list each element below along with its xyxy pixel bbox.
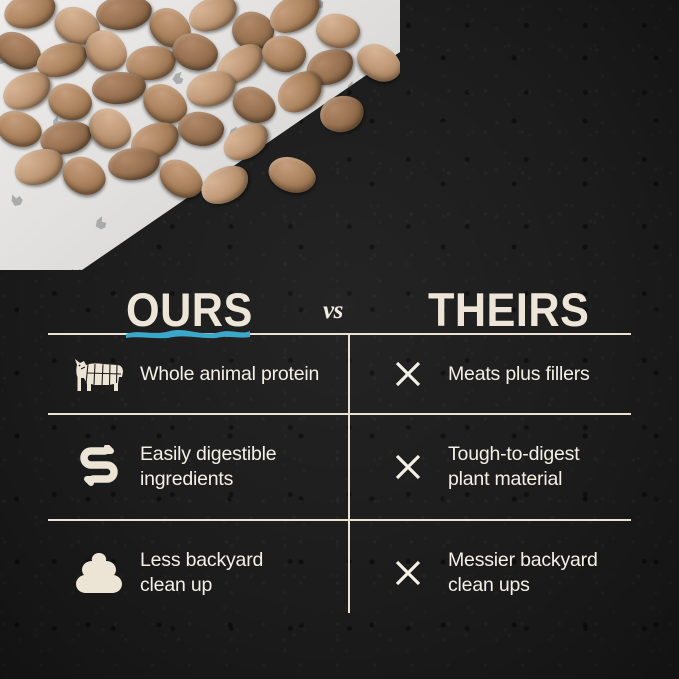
theirs-row-text: Meats plus fillers <box>448 362 590 387</box>
theirs-header-cell: THEIRS <box>348 288 631 333</box>
x-mark-icon <box>380 558 436 588</box>
ours-cell: Whole animal protein <box>48 335 348 413</box>
comparison-infographic: OURS THEIRS vs <box>0 0 679 679</box>
ours-row-text: Whole animal protein <box>140 362 319 387</box>
ours-row-text: Easily digestible ingredients <box>140 442 276 492</box>
kibble-on-parchment-photo <box>0 0 400 270</box>
theirs-label: THEIRS <box>428 288 589 333</box>
theirs-row-text: Messier backyard clean ups <box>448 548 598 598</box>
ours-row-text: Less backyard clean up <box>140 548 263 598</box>
table-row: Less backyard clean up Messier backyard … <box>48 521 631 625</box>
ours-cell: Less backyard clean up <box>48 521 348 625</box>
ours-cell: Easily digestible ingredients <box>48 415 348 519</box>
table-body: Whole animal protein Meats plus fillers <box>48 335 631 625</box>
ours-label: OURS <box>126 288 253 333</box>
cow-butcher-cuts-icon <box>70 353 128 395</box>
theirs-cell: Messier backyard clean ups <box>348 521 631 625</box>
theirs-cell: Meats plus fillers <box>348 335 631 413</box>
ours-header-cell: OURS <box>48 288 348 333</box>
x-mark-icon <box>380 359 436 389</box>
theirs-row-text: Tough-to-digest plant material <box>448 442 579 492</box>
intestine-icon <box>70 445 128 489</box>
theirs-cell: Tough-to-digest plant material <box>348 415 631 519</box>
vs-label: vs <box>323 297 343 325</box>
table-header-row: OURS THEIRS vs <box>48 255 631 333</box>
table-row: Whole animal protein Meats plus fillers <box>48 335 631 413</box>
poop-pile-icon <box>70 551 128 595</box>
table-row: Easily digestible ingredients Tough-to-d… <box>48 415 631 519</box>
comparison-table: OURS THEIRS vs <box>48 255 631 625</box>
x-mark-icon <box>380 452 436 482</box>
